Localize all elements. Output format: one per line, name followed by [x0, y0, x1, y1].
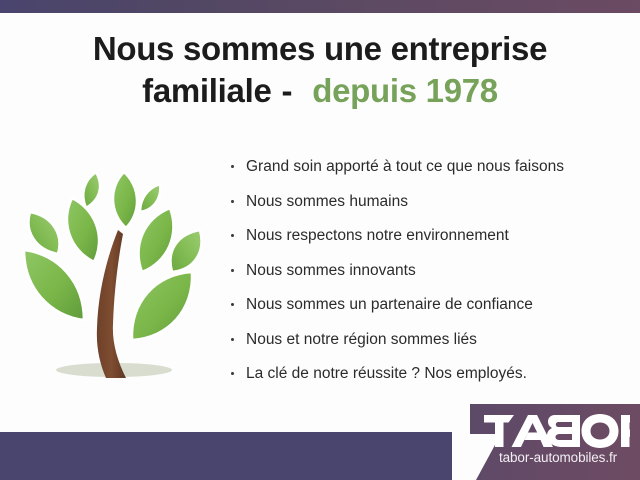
- leaf-top-center: [113, 172, 137, 228]
- bullet-icon: [231, 372, 234, 375]
- list-item-label: Grand soin apporté à tout ce que nous fa…: [246, 158, 564, 175]
- list-item: Nous et notre région sommes liés: [228, 323, 628, 358]
- list-item-label: La clé de notre réussite ? Nos employés.: [246, 365, 527, 382]
- leaf-mid-right: [170, 230, 201, 272]
- headline-line-2: familiale-depuis 1978: [0, 70, 640, 112]
- bullet-icon: [231, 165, 234, 168]
- logo-letter-o: [582, 414, 619, 448]
- promo-slide: Nous sommes une entreprise familiale-dep…: [0, 0, 640, 480]
- tabor-logo: [484, 414, 630, 448]
- logo-letter-a: [512, 415, 554, 447]
- brand-tagline: tabor-automobiles.fr: [484, 450, 632, 465]
- list-item: Grand soin apporté à tout ce que nous fa…: [228, 150, 628, 185]
- bullet-icon: [231, 338, 234, 341]
- tree-trunk: [97, 230, 126, 378]
- top-accent-bar: [0, 0, 640, 13]
- logo-letter-t: [484, 415, 514, 447]
- list-item: Nous sommes humains: [228, 185, 628, 220]
- bullet-icon: [231, 200, 234, 203]
- leaf-lower-right: [132, 272, 192, 340]
- list-item-label: Nous sommes innovants: [246, 262, 416, 279]
- list-item: Nous respectons notre environnement: [228, 219, 628, 254]
- bullet-icon: [231, 303, 234, 306]
- list-item-label: Nous respectons notre environnement: [246, 227, 509, 244]
- headline-prefix: familiale: [142, 72, 271, 109]
- list-item-label: Nous et notre région sommes liés: [246, 331, 477, 348]
- tree-illustration: [14, 142, 214, 387]
- logo-letter-r: [621, 415, 630, 447]
- leaf-lower-left: [24, 250, 84, 320]
- list-item: Nous sommes innovants: [228, 254, 628, 289]
- leaf-top-right: [140, 184, 160, 212]
- page-title: Nous sommes une entreprise familiale-dep…: [0, 28, 640, 112]
- list-item: Nous sommes un partenaire de confiance: [228, 288, 628, 323]
- leaf-top-left: [83, 172, 100, 208]
- headline-dash: -: [282, 72, 293, 109]
- list-item-label: Nous sommes humains: [246, 193, 408, 210]
- leaf-upper-left: [67, 198, 99, 262]
- footer-bar-left: [0, 432, 452, 480]
- leaf-upper-right: [138, 208, 173, 272]
- bullet-icon: [231, 234, 234, 237]
- bullet-icon: [231, 269, 234, 272]
- leaf-mid-left: [28, 212, 59, 254]
- headline-line-1: Nous sommes une entreprise: [0, 28, 640, 70]
- list-item-label: Nous sommes un partenaire de confiance: [246, 296, 533, 313]
- list-item: La clé de notre réussite ? Nos employés.: [228, 357, 628, 392]
- logo-letter-b-reversed: [547, 415, 580, 447]
- benefits-list: Grand soin apporté à tout ce que nous fa…: [228, 150, 628, 392]
- headline-accent: depuis 1978: [312, 72, 498, 109]
